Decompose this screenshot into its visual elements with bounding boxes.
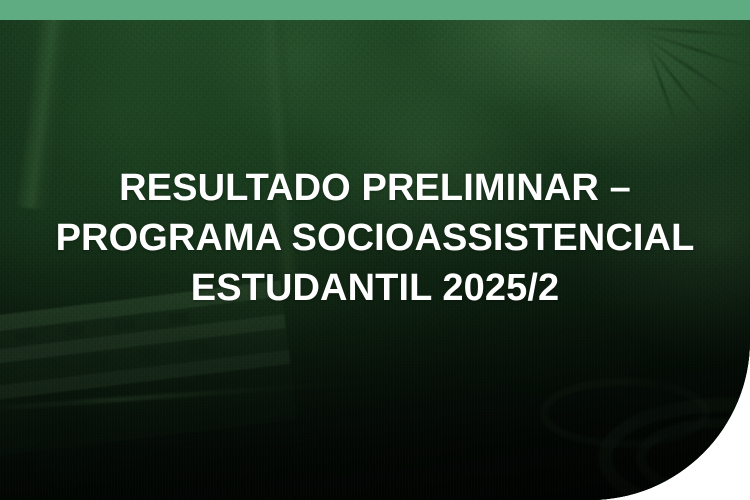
page-title-line-2: PROGRAMA SOCIOASSISTENCIAL [12, 213, 738, 263]
page-title-line-3: ESTUDANTIL 2025/2 [12, 263, 738, 313]
page-title: RESULTADO PRELIMINAR – PROGRAMA SOCIOASS… [0, 163, 750, 313]
resultado-preliminar-banner: RESULTADO PRELIMINAR – PROGRAMA SOCIOASS… [0, 0, 750, 500]
page-title-line-1: RESULTADO PRELIMINAR – [12, 163, 738, 213]
top-accent-bar [0, 0, 750, 20]
